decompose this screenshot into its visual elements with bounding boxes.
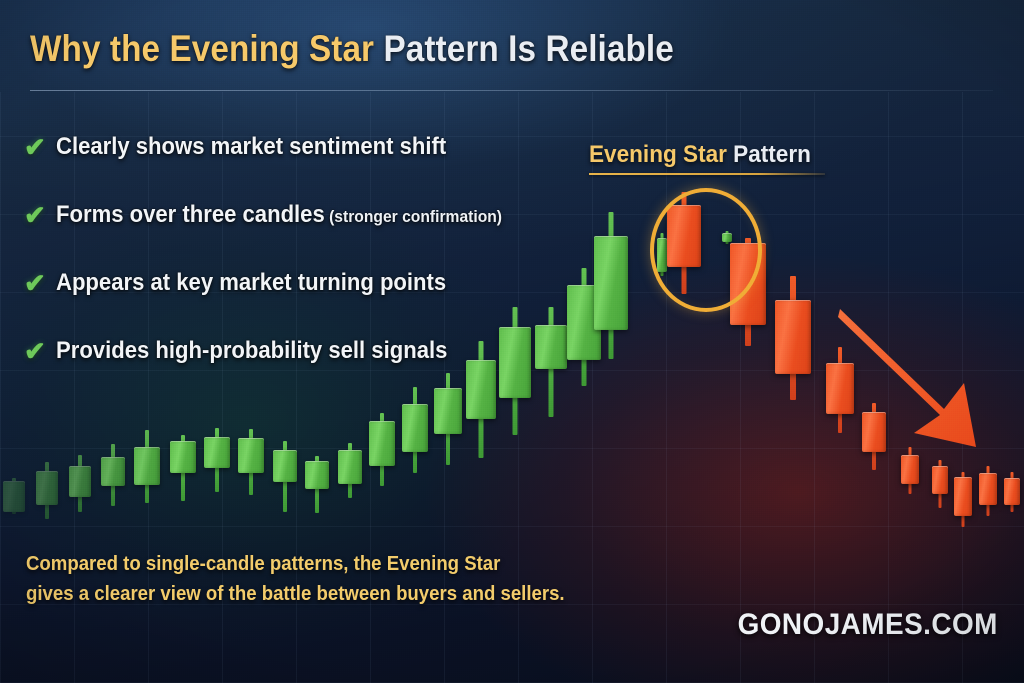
check-icon: ✔: [24, 134, 56, 160]
list-item-note: (stronger confirmation): [325, 207, 502, 226]
watermark: GONOJAMES.COM: [738, 608, 998, 642]
candlestick-bearish: [901, 447, 919, 494]
candle-body: [369, 421, 395, 466]
page-title-accent: Why the Evening Star: [30, 28, 374, 69]
candle-body: [3, 481, 25, 512]
benefits-list: ✔ Clearly shows market sentiment shift ✔…: [24, 132, 564, 404]
candle-body: [170, 441, 196, 473]
candle-body: [862, 412, 886, 452]
page-title: Why the Evening Star Pattern Is Reliable: [30, 28, 894, 70]
candle-body: [1004, 478, 1020, 505]
candlestick-bullish: [305, 456, 329, 513]
list-item-label: Appears at key market turning points: [56, 269, 446, 297]
list-item-label: Clearly shows market sentiment shift: [56, 133, 446, 161]
candlestick-bearish: [954, 472, 972, 527]
candlestick-bullish: [594, 212, 628, 359]
candle-body: [305, 461, 329, 489]
candle-body: [826, 363, 854, 414]
title-divider: [30, 90, 993, 91]
candlestick-bullish: [3, 478, 25, 514]
candle-body: [36, 471, 58, 505]
infographic-canvas: Why the Evening Star Pattern Is Reliable…: [0, 0, 1024, 683]
list-item-text: Forms over three candles: [56, 201, 325, 228]
footnote-line-2: gives a clearer view of the battle betwe…: [26, 579, 547, 609]
list-item-text: Appears at key market turning points: [56, 269, 446, 296]
candlestick-bullish: [238, 429, 264, 495]
candlestick-bearish: [979, 466, 997, 516]
list-item: ✔ Forms over three candles (stronger con…: [24, 200, 564, 268]
candlestick-bearish: [775, 276, 811, 400]
candlestick-bullish: [204, 428, 230, 492]
pattern-annotation: Evening Star Pattern: [589, 141, 825, 175]
page-title-rest: Pattern Is Reliable: [374, 28, 674, 69]
candle-body: [932, 466, 948, 494]
pattern-annotation-label: Evening Star Pattern: [589, 141, 811, 169]
check-icon: ✔: [24, 270, 56, 296]
candle-body: [338, 450, 362, 484]
candlestick-bullish: [369, 413, 395, 486]
footnote-line-1: Compared to single-candle patterns, the …: [26, 549, 547, 579]
candle-body: [901, 455, 919, 484]
candle-body: [238, 438, 264, 473]
candle-body: [204, 437, 230, 468]
candlestick-bullish: [170, 435, 196, 501]
candlestick-bullish: [338, 443, 362, 498]
list-item: ✔ Clearly shows market sentiment shift: [24, 132, 564, 200]
candlestick-bearish: [1004, 472, 1020, 512]
list-item-label: Forms over three candles (stronger confi…: [56, 201, 502, 229]
header: Why the Evening Star Pattern Is Reliable: [30, 28, 990, 70]
list-item-text: Clearly shows market sentiment shift: [56, 133, 446, 160]
candle-body: [134, 447, 160, 485]
candle-body: [954, 477, 972, 516]
candle-body: [402, 404, 428, 452]
candle-body: [979, 473, 997, 505]
candlestick-bearish: [862, 403, 886, 470]
list-item-label: Provides high-probability sell signals: [56, 337, 447, 365]
list-item-text: Provides high-probability sell signals: [56, 337, 447, 364]
pattern-annotation-rest: Pattern: [727, 141, 811, 168]
pattern-annotation-underline: [589, 173, 825, 175]
candle-body: [69, 466, 91, 497]
candlestick-bullish: [36, 462, 58, 519]
candle-body: [775, 300, 811, 374]
list-item: ✔ Provides high-probability sell signals: [24, 336, 564, 404]
candle-body: [594, 236, 628, 330]
candle-body: [101, 457, 125, 486]
list-item: ✔ Appears at key market turning points: [24, 268, 564, 336]
candlestick-bullish: [273, 441, 297, 512]
candlestick-bullish: [69, 455, 91, 512]
candlestick-bullish: [101, 444, 125, 506]
candlestick-bearish: [826, 347, 854, 433]
check-icon: ✔: [24, 202, 56, 228]
pattern-annotation-accent: Evening Star: [589, 141, 727, 168]
check-icon: ✔: [24, 338, 56, 364]
pattern-highlight-circle: [650, 188, 762, 312]
footnote: Compared to single-candle patterns, the …: [26, 549, 586, 609]
candle-body: [273, 450, 297, 482]
candlestick-bullish: [134, 430, 160, 503]
candlestick-bearish: [932, 460, 948, 508]
